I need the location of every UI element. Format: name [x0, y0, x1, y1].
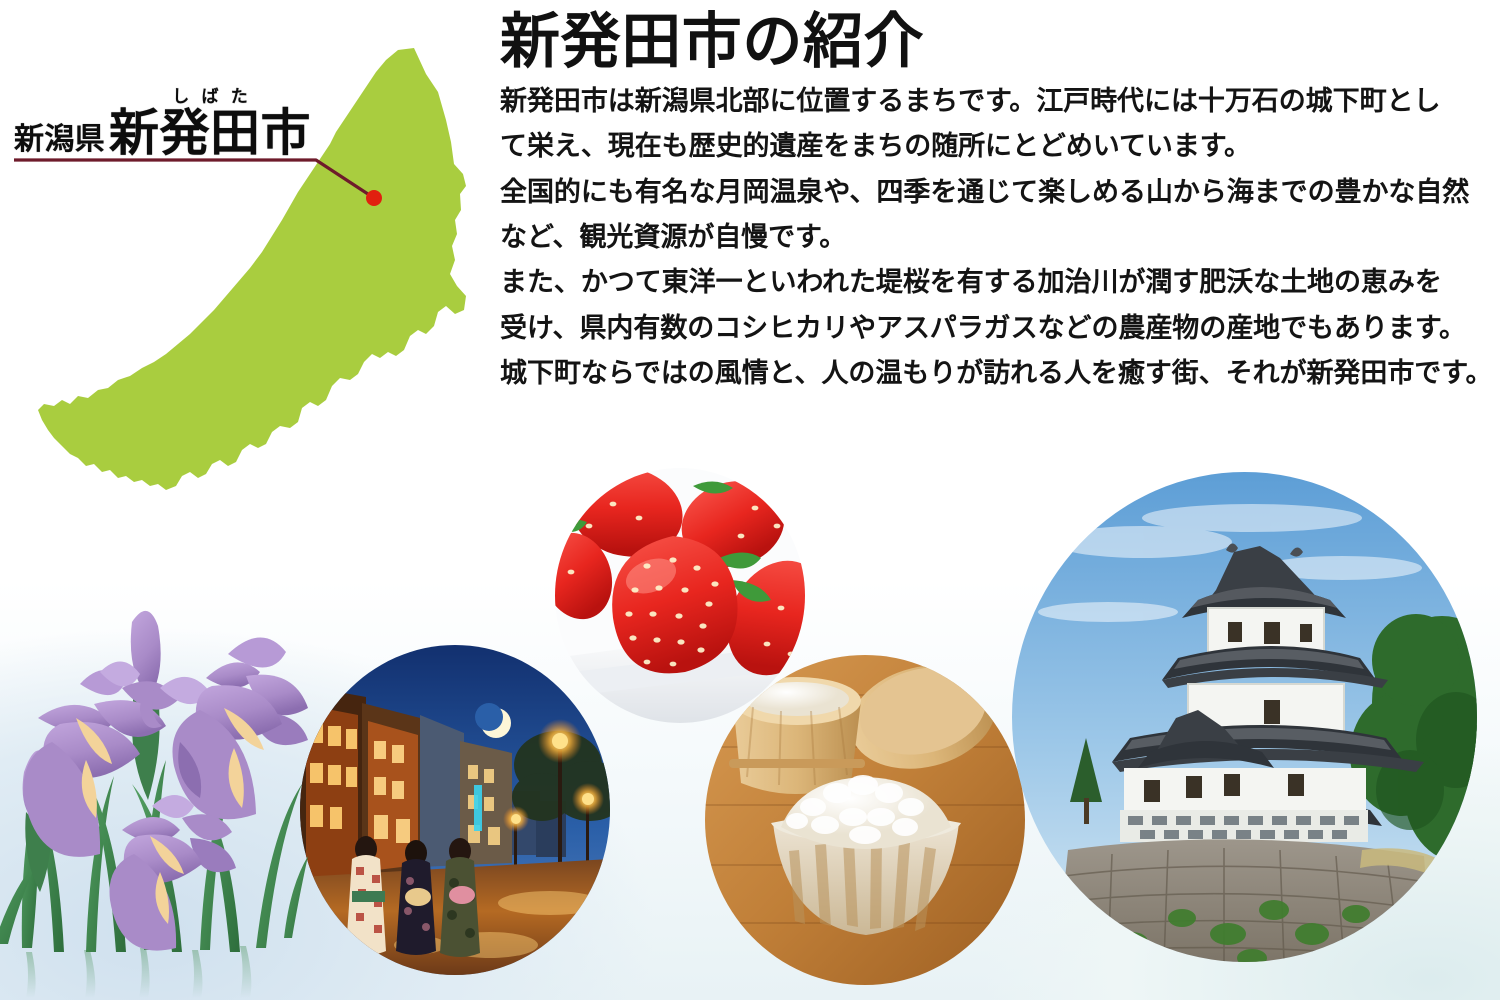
strawberry-front	[612, 536, 737, 673]
photo-rice-bowl	[705, 655, 1025, 985]
map-label: 新潟県 しばた 新発田市	[14, 88, 311, 158]
intro-body-text: 新発田市は新潟県北部に位置するまちです。江戸時代には十万石の城下町として栄え、現…	[500, 79, 1475, 397]
niigata-map-block: 新潟県 しばた 新発田市	[0, 0, 480, 510]
photo-shibata-castle	[1012, 472, 1477, 962]
intro-line: また、かつて東洋一といわれた堤桜を有する加治川が潤す肥沃な土地の恵みを	[500, 260, 1475, 305]
city-name-furigana: しばた	[160, 88, 260, 105]
prefecture-name: 新潟県	[14, 125, 105, 158]
poster-root: 新潟県 しばた 新発田市 新発田市の紹介 新発田市は新潟県北部に位置するまちです…	[0, 0, 1500, 1000]
iris-flower-right	[140, 637, 308, 819]
intro-line: 新発田市は新潟県北部に位置するまちです。江戸時代には十万石の城下町とし	[500, 79, 1475, 124]
intro-line: 城下町ならではの風情と、人の温もりが訪れる人を癒す街、それが新発田市です。	[500, 351, 1475, 396]
city-marker-dot	[366, 190, 382, 206]
intro-line: 受け、県内有数のコシヒカリやアスパラガスなどの農産物の産地でもあります。	[500, 306, 1475, 351]
city-name: 新発田市	[109, 108, 311, 158]
intro-line: など、観光資源が自慢です。	[500, 215, 1475, 260]
city-name-with-ruby: しばた 新発田市	[109, 88, 311, 158]
iris-reflection	[26, 946, 251, 998]
intro-paragraph: また、かつて東洋一といわれた堤桜を有する加治川が潤す肥沃な土地の恵みを受け、県内…	[500, 260, 1475, 351]
intro-paragraph: 城下町ならではの風情と、人の温もりが訪れる人を癒す街、それが新発田市です。	[500, 351, 1475, 396]
intro-line: て栄え、現在も歴史的遺産をまちの随所にとどめいています。	[500, 124, 1475, 169]
intro-line: 全国的にも有名な月岡温泉や、四季を通じて楽しめる山から海までの豊かな自然	[500, 170, 1475, 215]
yukata-figures	[346, 836, 480, 957]
photo-onsen-street	[300, 645, 610, 975]
iris-flower-artwork	[0, 600, 334, 1000]
introduction-block: 新発田市の紹介 新発田市は新潟県北部に位置するまちです。江戸時代には十万石の城下…	[500, 10, 1475, 396]
photo-strawberry	[555, 468, 805, 723]
iris-flower-centre	[110, 795, 237, 951]
intro-paragraph: 全国的にも有名な月岡温泉や、四季を通じて楽しめる山から海までの豊かな自然など、観…	[500, 170, 1475, 261]
page-title: 新発田市の紹介	[500, 10, 1475, 75]
intro-paragraph: 新発田市は新潟県北部に位置するまちです。江戸時代には十万石の城下町として栄え、現…	[500, 79, 1475, 170]
